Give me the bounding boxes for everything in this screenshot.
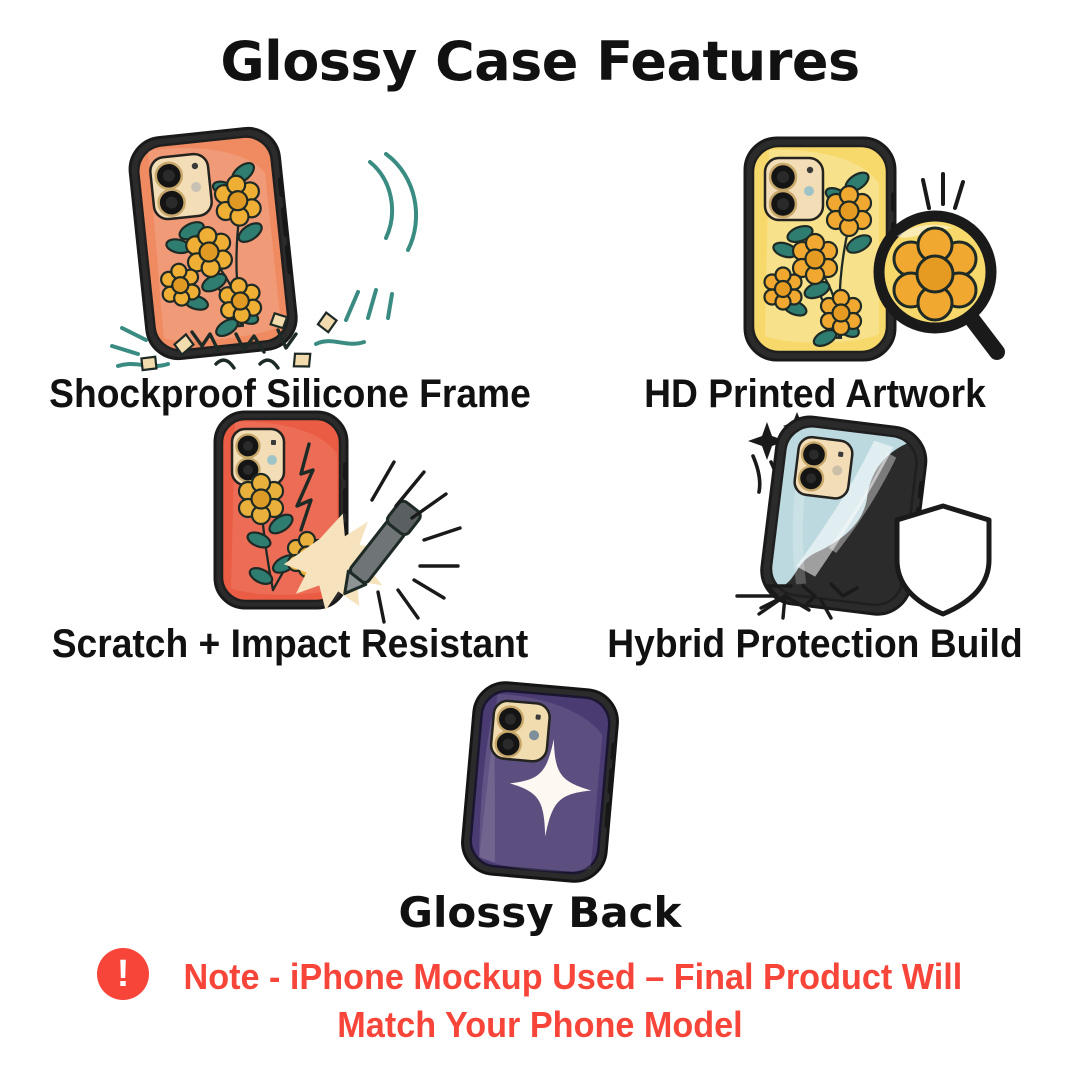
glossy-case-features-infographic: Glossy Case Features (0, 0, 1080, 1080)
exclamation-circle-icon: ! (97, 948, 149, 1000)
feature-label-glossy-back: Glossy Back (270, 888, 810, 937)
feature-label-hybrid-protection: Hybrid Protection Build (564, 622, 1066, 667)
feature-card-hybrid-protection: Hybrid Protection Build (545, 400, 1080, 690)
note-line-2: Match Your Phone Model (27, 1002, 1053, 1047)
feature-card-scratch-impact: Scratch + Impact Resistant (20, 400, 560, 690)
phone-case-bouncing-icon (20, 120, 560, 375)
feature-card-glossy-back: Glossy Back (270, 680, 810, 940)
disclaimer-note: ! Note - iPhone Mockup Used – Final Prod… (0, 950, 1080, 1047)
feature-card-shockproof: Shockproof Silicone Frame (20, 120, 560, 420)
note-line-1: Note - iPhone Mockup Used – Final Produc… (184, 954, 963, 999)
feature-card-hd-printed: HD Printed Artwork (545, 120, 1080, 420)
page-title: Glossy Case Features (0, 30, 1080, 93)
phone-case-knife-impact-icon (20, 400, 560, 625)
phone-case-sparkle-icon (270, 680, 810, 890)
feature-label-scratch-impact: Scratch + Impact Resistant (39, 622, 541, 667)
phone-case-shield-icon (545, 400, 1080, 625)
phone-case-magnifier-icon (545, 120, 1080, 375)
